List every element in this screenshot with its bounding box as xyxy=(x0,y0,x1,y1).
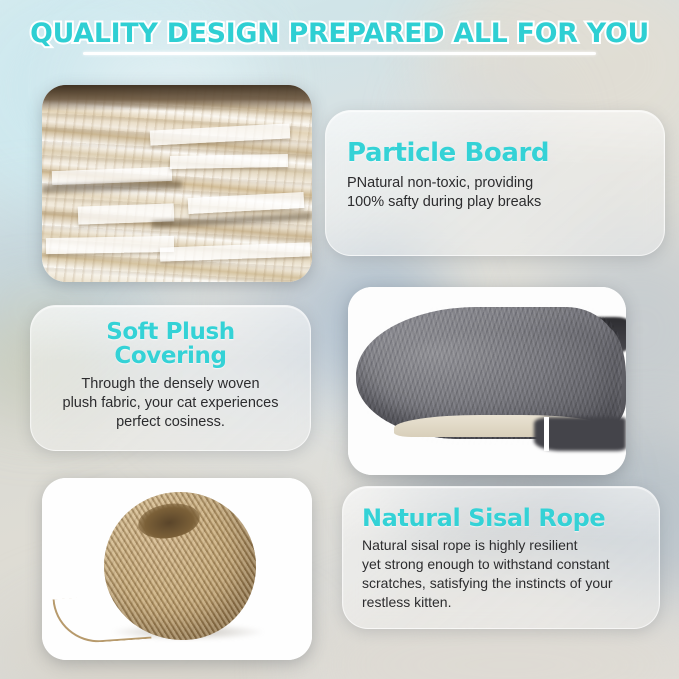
board-slab xyxy=(160,242,310,261)
card-natural-sisal-rope-body-line: yet strong enough to withstand constant xyxy=(362,555,659,574)
card-soft-plush-covering-body-line: Through the densely woven xyxy=(45,375,296,394)
card-soft-plush-covering-body-line: plush fabric, your cat experiences xyxy=(45,394,296,413)
card-soft-plush-covering-title: Soft Plush Covering xyxy=(49,320,292,368)
board-slab xyxy=(170,154,288,169)
board-slab xyxy=(150,123,291,145)
card-soft-plush-covering-body: Through the densely woven plush fabric, … xyxy=(45,375,296,432)
card-particle-board-body-line: PNatural non-toxic, providing xyxy=(347,174,664,193)
sisal-rope-photo xyxy=(42,478,312,660)
card-particle-board-title: Particle Board xyxy=(347,140,664,167)
headline-divider xyxy=(83,52,596,55)
plush-white-gap xyxy=(544,417,549,451)
card-natural-sisal-rope-body: Natural sisal rope is highly resilient y… xyxy=(362,536,659,612)
card-natural-sisal-rope-body-line: scratches, satisfying the instincts of y… xyxy=(362,574,659,593)
card-particle-board: Particle Board PNatural non-toxic, provi… xyxy=(325,110,665,256)
card-natural-sisal-rope-title: Natural Sisal Rope xyxy=(362,506,659,531)
board-slab xyxy=(188,192,305,214)
card-soft-plush-covering-body-line: perfect cosiness. xyxy=(45,413,296,432)
card-soft-plush-covering: Soft Plush Covering Through the densely … xyxy=(30,305,311,451)
plush-fabric-photo xyxy=(348,287,626,475)
particle-board-photo xyxy=(42,85,312,282)
card-natural-sisal-rope-body-line: Natural sisal rope is highly resilient xyxy=(362,536,659,555)
card-particle-board-body-line: 100% safty during play breaks xyxy=(347,193,664,212)
infographic-canvas: QUALITY DESIGN PREPARED ALL FOR YOU Part… xyxy=(0,0,679,679)
card-natural-sisal-rope-body-line: restless kitten. xyxy=(362,593,659,612)
card-particle-board-body: PNatural non-toxic, providing 100% safty… xyxy=(347,174,664,212)
page-title: QUALITY DESIGN PREPARED ALL FOR YOU xyxy=(30,18,649,49)
headline-container: QUALITY DESIGN PREPARED ALL FOR YOU xyxy=(0,18,679,49)
board-slab xyxy=(46,236,174,254)
card-natural-sisal-rope: Natural Sisal Rope Natural sisal rope is… xyxy=(342,486,660,629)
